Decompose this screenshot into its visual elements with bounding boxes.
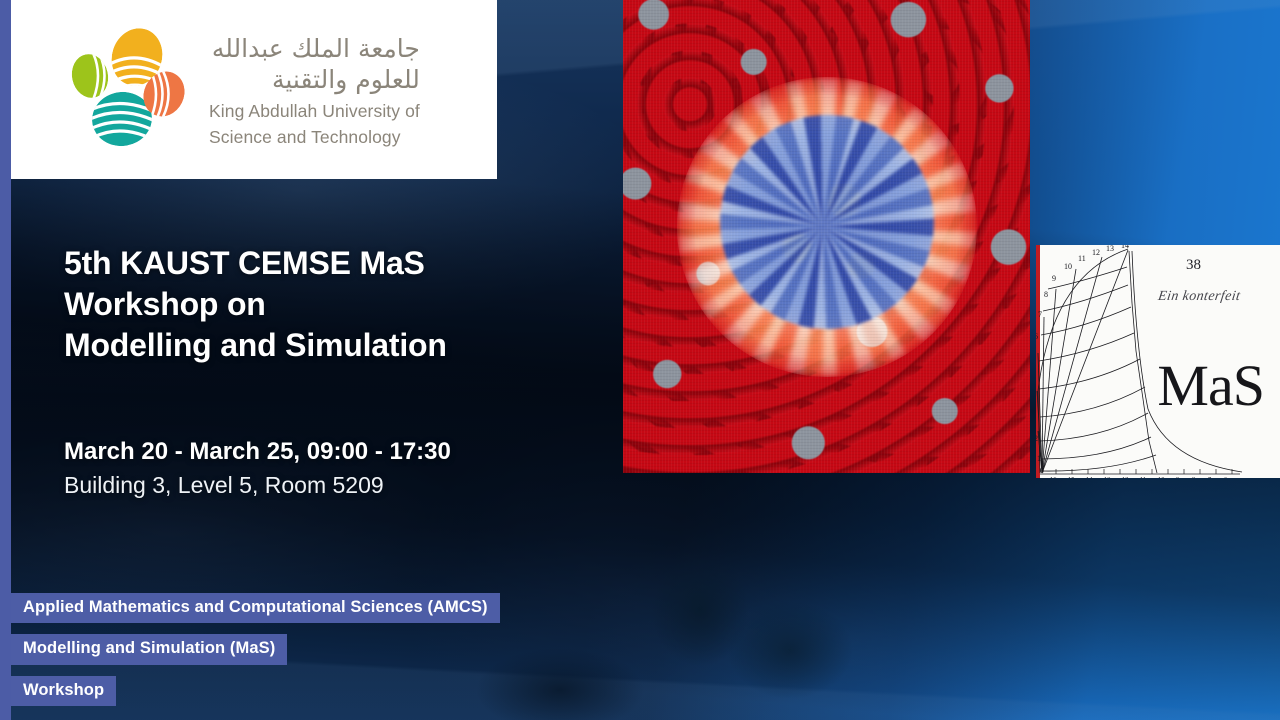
svg-text:7: 7 (1208, 476, 1212, 478)
svg-text:12: 12 (1122, 476, 1129, 478)
kaust-logo-text: جامعة الملك عبدالله للعلوم والتقنية King… (209, 31, 420, 149)
badge-mas[interactable]: Modelling and Simulation (MaS) (11, 634, 287, 664)
category-badge-list: Applied Mathematics and Computational Sc… (11, 593, 500, 706)
badge-amcs[interactable]: Applied Mathematics and Computational Sc… (11, 593, 500, 623)
event-datetime: March 20 - March 25, 09:00 - 17:30 (64, 438, 451, 466)
svg-text:9: 9 (1052, 274, 1056, 283)
mas-folio-number: 38 (1186, 257, 1201, 274)
left-accent-strip (0, 0, 11, 720)
svg-text:14: 14 (1121, 245, 1129, 250)
svg-text:11: 11 (1078, 254, 1086, 263)
svg-text:10: 10 (1064, 262, 1072, 271)
svg-text:7: 7 (1038, 310, 1042, 319)
event-location: Building 3, Level 5, Room 5209 (64, 472, 384, 499)
poster-stage: جامعة الملك عبدالله للعلوم والتقنية King… (0, 0, 1280, 720)
porous-media-simulation-image (623, 0, 1030, 473)
svg-text:1: 1 (1037, 454, 1041, 463)
svg-text:10: 10 (1158, 476, 1165, 478)
kaust-logo-icon (63, 25, 193, 155)
svg-text:14: 14 (1086, 476, 1093, 478)
mas-handwritten-caption: Ein konterfeit (1157, 289, 1241, 305)
svg-text:6: 6 (1224, 476, 1228, 478)
svg-text:8: 8 (1044, 290, 1048, 299)
svg-text:15: 15 (1068, 476, 1075, 478)
svg-text:6: 6 (1036, 332, 1038, 341)
badge-workshop[interactable]: Workshop (11, 676, 116, 706)
svg-text:8: 8 (1192, 476, 1195, 478)
svg-text:13: 13 (1106, 245, 1114, 253)
mas-historical-logo-image: 141312 11109 876 543 210 161514 131211 1… (1036, 245, 1280, 478)
kaust-logo-card: جامعة الملك عبدالله للعلوم والتقنية King… (11, 0, 497, 179)
svg-text:0: 0 (1040, 466, 1044, 475)
event-headline-block: 5th KAUST CEMSE MaS Workshop on Modellin… (64, 243, 604, 366)
svg-text:12: 12 (1092, 248, 1100, 257)
svg-text:2: 2 (1036, 434, 1038, 443)
kaust-logo-english-line2: Science and Technology (209, 127, 420, 148)
kaust-logo-arabic-line2: للعلوم والتقنية (209, 64, 420, 96)
simulation-grain-overlay (623, 0, 1030, 473)
svg-text:11: 11 (1140, 476, 1146, 478)
event-title: 5th KAUST CEMSE MaS Workshop on Modellin… (64, 243, 604, 366)
mas-wordmark: MaS (1157, 357, 1264, 415)
svg-text:16: 16 (1050, 476, 1057, 478)
svg-text:13: 13 (1104, 476, 1111, 478)
kaust-logo-arabic-line1: جامعة الملك عبدالله (209, 33, 420, 65)
kaust-logo-english-line1: King Abdullah University of (209, 101, 420, 122)
svg-text:9: 9 (1176, 476, 1179, 478)
